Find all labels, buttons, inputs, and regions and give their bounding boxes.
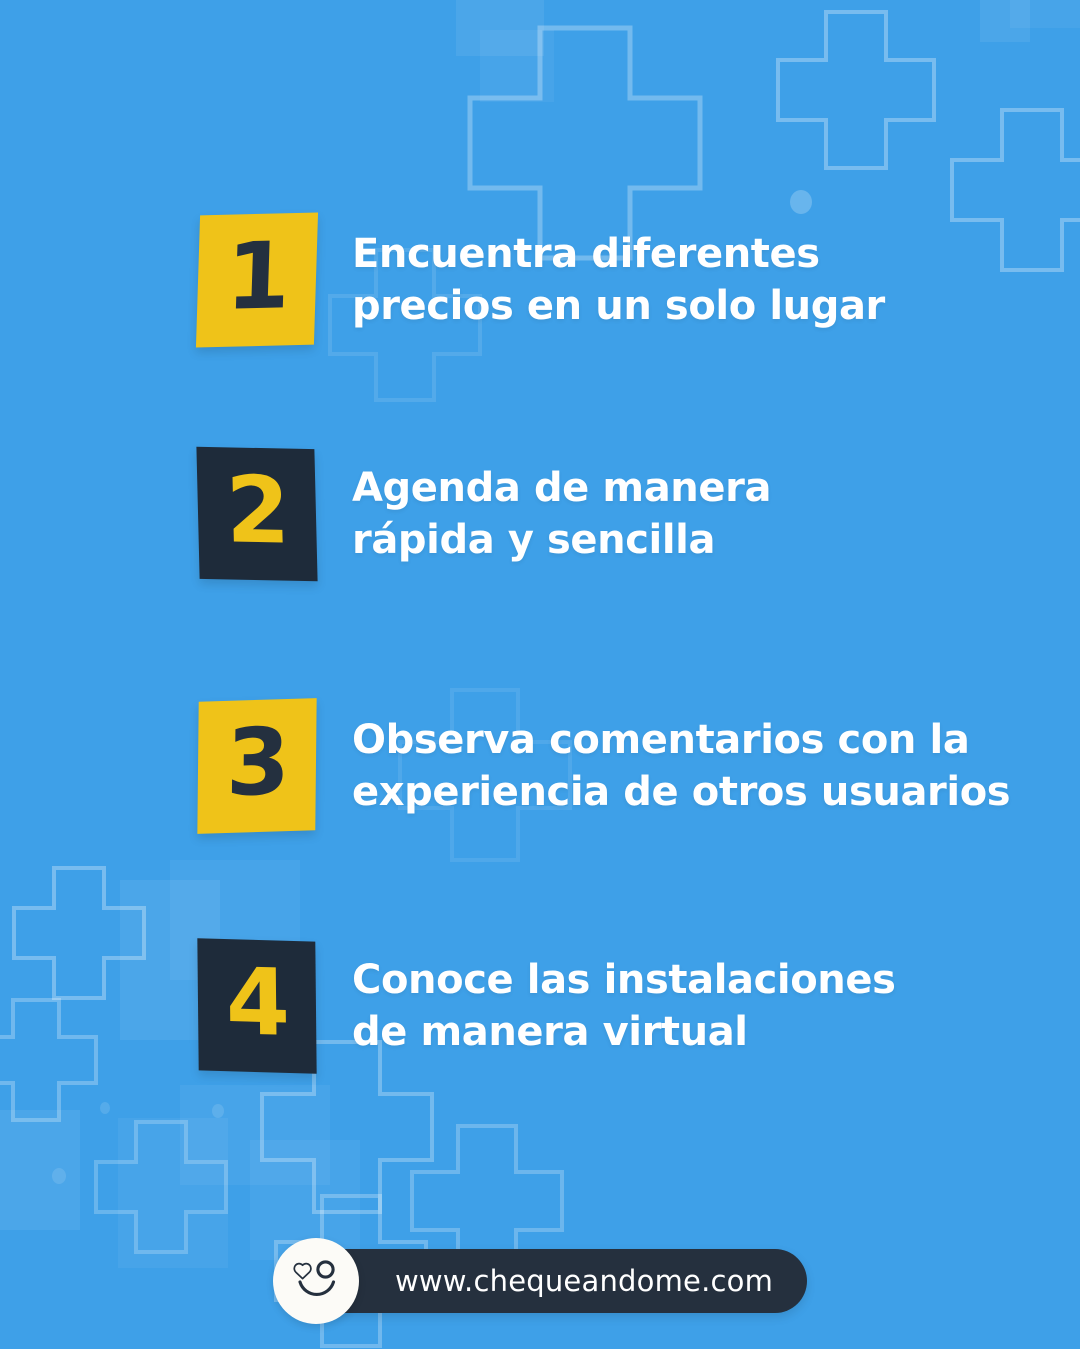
step-item-1: 1 Encuentra diferentes precios en un sol… [198,214,885,346]
step-badge-2: 2 [196,447,317,582]
step-label-3: Observa comentarios con la experiencia d… [352,714,1010,818]
step-item-4: 4 Conoce las instalaciones de manera vir… [198,940,896,1072]
footer: www.chequeandome.com [0,1238,1080,1324]
website-url[interactable]: www.chequeandome.com [299,1249,807,1313]
step-badge-1: 1 [196,212,318,347]
step-item-2: 2 Agenda de manera rápida y sencilla [198,448,771,580]
smiley-heart-eye-icon [287,1252,345,1310]
step-item-3: 3 Observa comentarios con la experiencia… [198,700,1010,832]
step-number-1: 1 [225,230,290,324]
step-badge-3: 3 [197,698,316,834]
step-number-3: 3 [226,716,289,810]
brand-logo [273,1238,359,1324]
step-number-2: 2 [225,464,289,557]
steps-list: 1 Encuentra diferentes precios en un sol… [0,0,1080,1349]
step-number-4: 4 [225,956,288,1050]
step-label-4: Conoce las instalaciones de manera virtu… [352,954,896,1058]
step-label-2: Agenda de manera rápida y sencilla [352,462,771,566]
step-label-1: Encuentra diferentes precios en un solo … [352,228,885,332]
step-badge-4: 4 [197,938,316,1073]
footer-badge[interactable]: www.chequeandome.com [273,1238,807,1324]
